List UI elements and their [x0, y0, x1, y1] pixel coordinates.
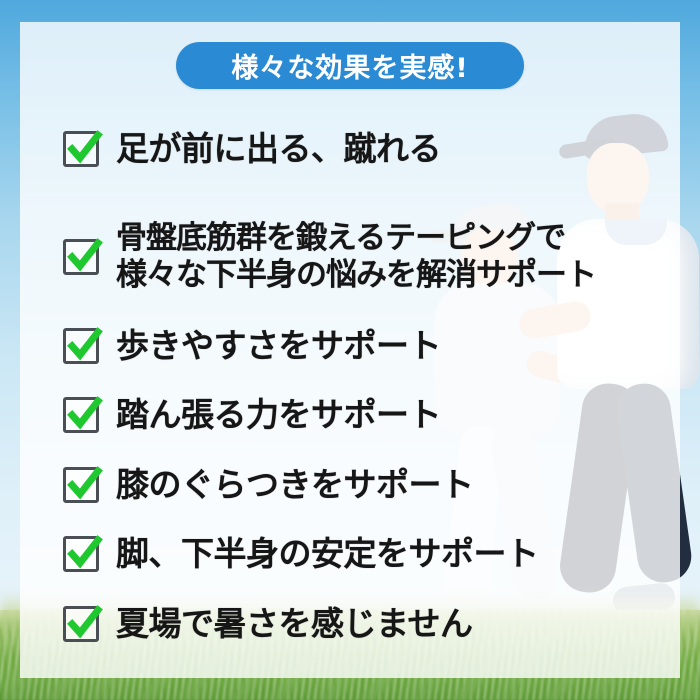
list-item-label: 脚、下半身の安定をサポート	[116, 535, 539, 573]
promo-graphic: 様々な効果を実感! 足が前に出る、蹴れる 骨盤底筋群を鍛えるテーピングで様々な下…	[0, 0, 700, 700]
check-mark-icon	[63, 131, 99, 167]
list-item-label: 骨盤底筋群を鍛えるテーピングで様々な下半身の悩みを解消サポート	[116, 220, 596, 294]
list-item-label: 足が前に出る、蹴れる	[116, 130, 441, 168]
list-item-label: 歩きやすさをサポート	[116, 327, 441, 365]
check-mark-icon	[63, 606, 99, 642]
list-item-label: 夏場で暑さを感じません	[116, 605, 473, 643]
list-item: 夏場で暑さを感じません	[63, 605, 473, 643]
list-item: 膝のぐらつきをサポート	[63, 466, 474, 504]
list-item-label: 膝のぐらつきをサポート	[116, 466, 474, 504]
check-mark-icon	[63, 397, 99, 433]
check-mark-icon	[63, 239, 99, 275]
banner-title: 様々な効果を実感!	[231, 46, 468, 85]
list-item: 脚、下半身の安定をサポート	[63, 535, 539, 573]
check-mark-icon	[63, 536, 99, 572]
check-mark-icon	[63, 328, 99, 364]
list-item-label: 踏ん張る力をサポート	[116, 396, 441, 434]
list-item-label-line2: 様々な下半身の悩みを解消サポート	[116, 257, 596, 294]
title-banner: 様々な効果を実感!	[176, 42, 524, 89]
list-item-label-line1: 骨盤底筋群を鍛えるテーピングで	[116, 220, 596, 257]
check-mark-icon	[63, 467, 99, 503]
list-item: 骨盤底筋群を鍛えるテーピングで様々な下半身の悩みを解消サポート	[63, 220, 596, 294]
list-item: 歩きやすさをサポート	[63, 327, 441, 365]
list-item: 足が前に出る、蹴れる	[63, 130, 441, 168]
list-item: 踏ん張る力をサポート	[63, 396, 441, 434]
